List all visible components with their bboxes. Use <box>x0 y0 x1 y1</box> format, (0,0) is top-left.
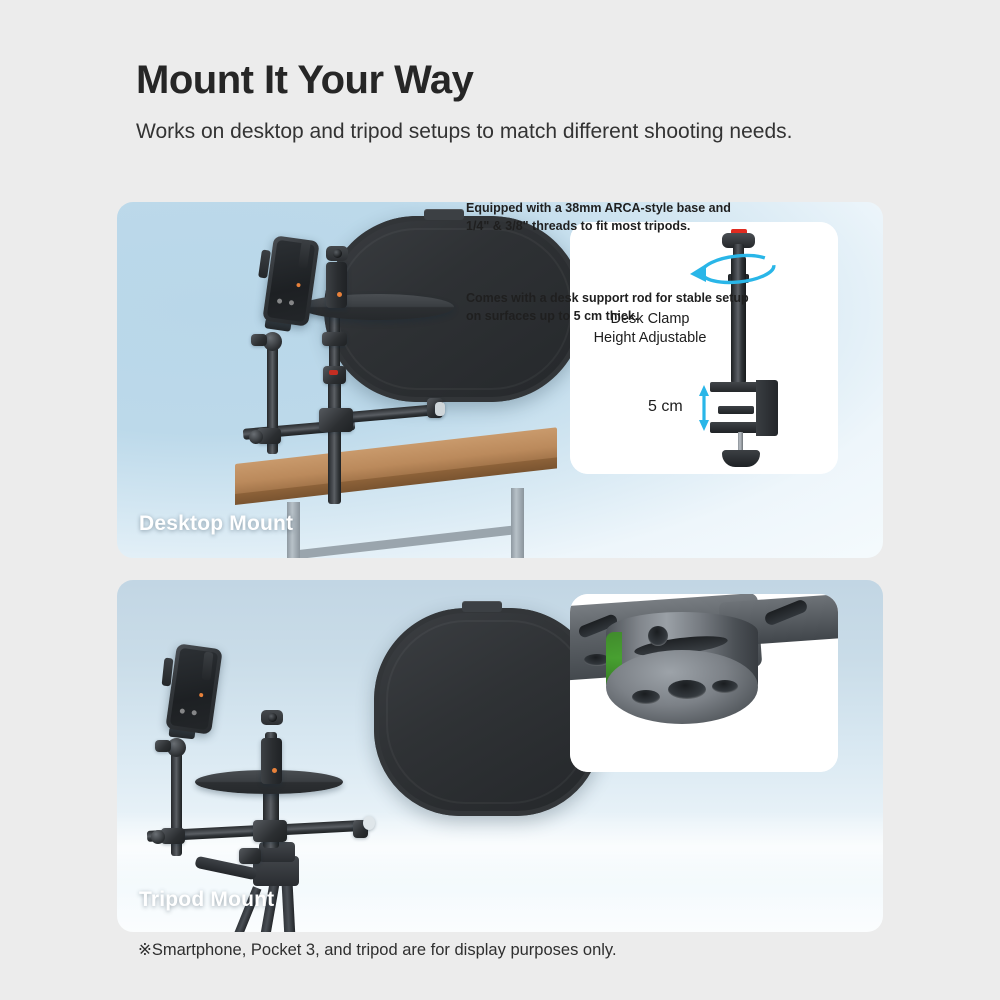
panel-tripod-mount: Tripod Mount <box>117 580 883 932</box>
thread-hole-quarter-inch <box>712 680 738 693</box>
pocket-camera-lens <box>333 249 342 258</box>
pocket-camera-body <box>261 738 282 784</box>
thread-hole-quarter-inch <box>632 690 660 704</box>
backdrop-holder-pad <box>363 816 375 830</box>
tripod-handle-joint <box>239 848 261 864</box>
cross-arm-center-clamp <box>253 820 287 842</box>
phone-arm-knob <box>251 334 267 346</box>
backdrop-mount-tab <box>424 209 464 220</box>
cross-arm-center-clamp <box>319 408 353 432</box>
arca-top-screw-hole <box>648 626 668 646</box>
page-title: Mount It Your Way <box>136 58 916 102</box>
pocket-camera-gimbal-head <box>261 710 283 725</box>
height-measure-arrow-icon <box>570 222 838 474</box>
backdrop-mount-tab <box>462 601 502 612</box>
post-adjust-ring <box>322 332 347 346</box>
header: Mount It Your Way Works on desktop and t… <box>136 58 916 146</box>
caption-arca-base: Equipped with a 38mm ARCA-style base and… <box>466 200 751 236</box>
caption-desk-clamp: Comes with a desk support rod for stable… <box>466 290 751 326</box>
page-subtitle: Works on desktop and tripod setups to ma… <box>136 118 801 146</box>
pocket-camera-led <box>337 292 342 297</box>
backdrop-holder-pad <box>435 402 445 416</box>
desk-leg <box>511 488 524 558</box>
main-post-lower <box>328 374 341 504</box>
thread-hole-three-eighths <box>668 680 706 699</box>
footer-disclaimer: ※Smartphone, Pocket 3, and tripod are fo… <box>138 940 617 960</box>
pocket-camera-gimbal-head <box>326 246 348 261</box>
callout-card-arca-base <box>570 594 838 772</box>
panel-desktop-mount: Desk Clamp Height Adjustable 5 cm Deskto… <box>117 202 883 558</box>
phone-arm-knob <box>155 740 171 752</box>
post-collar <box>323 366 346 384</box>
accessory-tray <box>300 294 454 320</box>
panel-label-desktop-mount: Desktop Mount <box>139 512 293 536</box>
panel-label-tripod-mount: Tripod Mount <box>139 888 274 912</box>
backdrop-panel <box>374 608 602 816</box>
phone-arm-base-ball <box>249 430 263 444</box>
callout-card-desk-clamp: Desk Clamp Height Adjustable 5 cm <box>570 222 838 474</box>
pocket-camera-lens <box>268 713 277 722</box>
pocket-camera-body <box>326 262 347 308</box>
post-lock-knob <box>329 370 338 375</box>
pocket-camera-led <box>272 768 277 773</box>
phone-arm-base-ball <box>151 830 165 844</box>
